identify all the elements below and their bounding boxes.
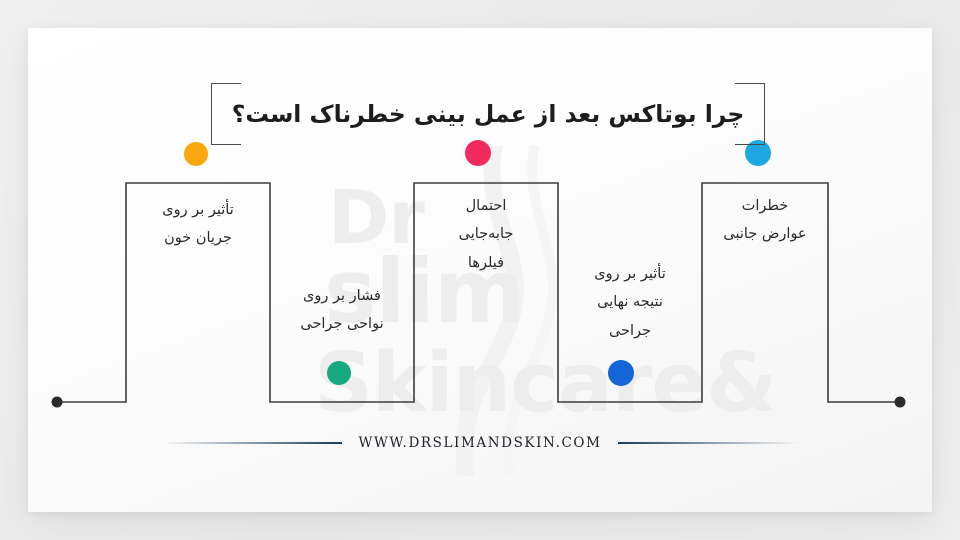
step-3-line-3: فیلرها: [414, 249, 558, 277]
title-block: چرا بوتاکس بعد از عمل بینی خطرناک است؟: [211, 78, 765, 150]
step-3-line-2: جابه‌جایی: [414, 220, 558, 248]
step-label-3: احتمال جابه‌جایی فیلرها: [414, 192, 558, 277]
blue-dot: [608, 360, 634, 386]
right-endpoint-dot: [895, 397, 906, 408]
page-background: Dr slim &Skincare چرا بوتاکس بعد از عمل …: [0, 0, 960, 540]
step-2-line-2: نواحی جراحی: [270, 310, 414, 338]
footer-rule-left: [162, 442, 342, 444]
page-title: چرا بوتاکس بعد از عمل بینی خطرناک است؟: [211, 78, 765, 150]
footer-rule-right: [618, 442, 798, 444]
footer-bar: WWW.DRSLIMANDSKIN.COM: [28, 432, 932, 454]
step-4-line-1: تأثیر بر روی: [558, 260, 702, 288]
step-1-line-2: جریان خون: [126, 224, 270, 252]
step-1-line-1: تأثیر بر روی: [126, 196, 270, 224]
step-3-line-1: احتمال: [414, 192, 558, 220]
orange-dot: [184, 142, 208, 166]
left-endpoint-dot: [52, 397, 63, 408]
step-4-line-2: نتیجه نهایی: [558, 288, 702, 316]
footer-website-url: WWW.DRSLIMANDSKIN.COM: [342, 435, 617, 451]
green-dot: [327, 361, 351, 385]
infographic-card: Dr slim &Skincare چرا بوتاکس بعد از عمل …: [28, 28, 932, 512]
step-4-line-3: جراحی: [558, 317, 702, 345]
step-label-5: خطرات عوارض جانبی: [702, 192, 828, 249]
step-label-2: فشار بر روی نواحی جراحی: [270, 282, 414, 339]
step-5-line-2: عوارض جانبی: [702, 220, 828, 248]
step-5-line-1: خطرات: [702, 192, 828, 220]
step-2-line-1: فشار بر روی: [270, 282, 414, 310]
step-label-1: تأثیر بر روی جریان خون: [126, 196, 270, 253]
step-label-4: تأثیر بر روی نتیجه نهایی جراحی: [558, 260, 702, 345]
